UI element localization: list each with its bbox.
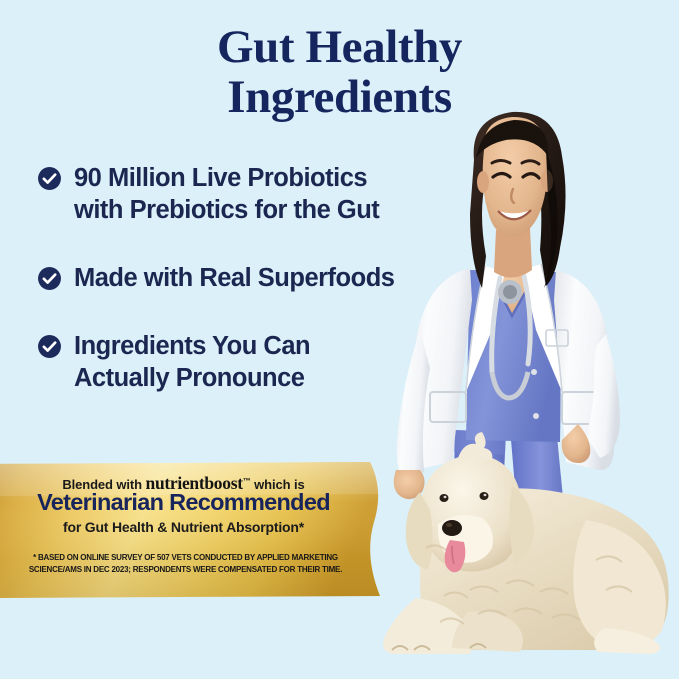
list-item: 90 Million Live Probiotics with Prebioti… (37, 163, 457, 227)
trademark-symbol: ™ (243, 477, 251, 486)
check-circle-icon (37, 266, 62, 291)
benefit-text: Made with Real Superfoods (74, 263, 394, 295)
veterinarian-recommended-banner: Blended with nutrientboost™ which is Vet… (0, 460, 393, 600)
banner-disclaimer: * BASED ON ONLINE SURVEY OF 507 VETS CON… (20, 552, 350, 575)
check-circle-icon (37, 166, 62, 191)
list-item: Made with Real Superfoods (37, 263, 457, 295)
banner-subline: for Gut Health & Nutrient Absorption* (0, 519, 367, 535)
benefits-list: 90 Million Live Probiotics with Prebioti… (37, 163, 457, 394)
marketing-image: Gut Healthy Ingredients 90 Million Live … (0, 0, 679, 679)
headline-line-2: Ingredients (0, 72, 679, 122)
check-circle-icon (37, 334, 62, 359)
headline-line-1: Gut Healthy (217, 21, 462, 73)
list-item: Ingredients You Can Actually Pronounce (37, 331, 457, 395)
page-title: Gut Healthy Ingredients (0, 22, 679, 123)
benefit-text: 90 Million Live Probiotics with Prebioti… (74, 163, 379, 227)
benefit-text: Ingredients You Can Actually Pronounce (74, 331, 310, 395)
banner-headline: Veterinarian Recommended (0, 489, 367, 516)
banner-copy: Blended with nutrientboost™ which is Vet… (0, 460, 393, 600)
